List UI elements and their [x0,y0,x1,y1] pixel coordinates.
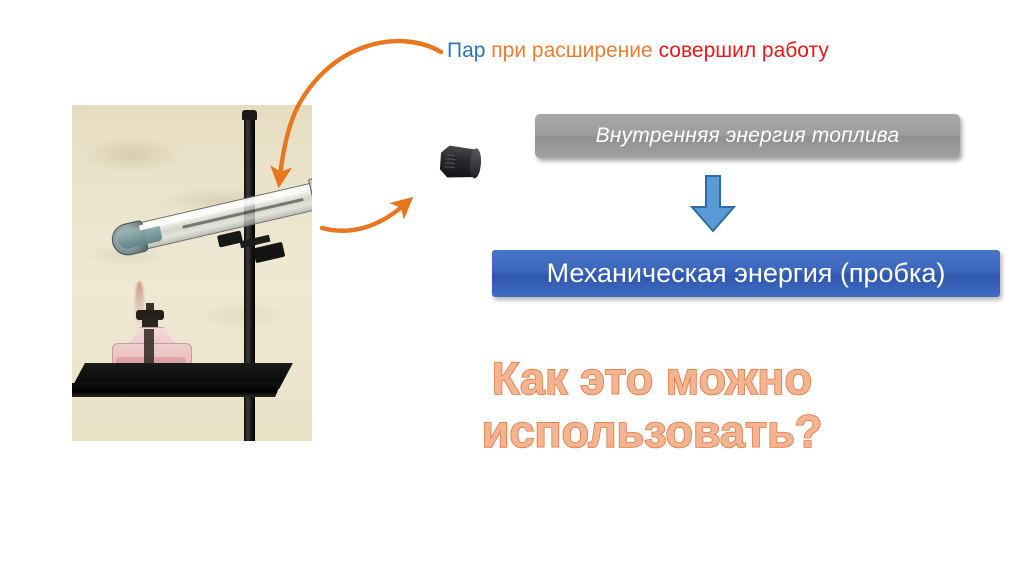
burner-inner-tube [144,329,154,363]
internal-energy-box[interactable]: Внутренняя энергия топлива [535,114,960,158]
mechanical-energy-box-label: Механическая энергия (пробка) [547,258,946,289]
heading-word-did-work: совершил работу [659,39,829,62]
cork-ridges [444,154,455,171]
stand-rod-cap [242,110,257,120]
top-heading: Пар при расширение совершил работу [447,38,829,64]
cork-top-face [469,148,482,179]
mechanical-energy-box[interactable]: Механическая энергия (пробка) [492,250,1000,297]
rubber-cork [437,145,479,180]
wordart-line-2: использовать? [434,405,870,458]
heading-word-steam: Пар [447,39,485,62]
arrow-to-cork-icon [322,205,404,231]
down-arrow-icon [689,174,737,234]
slide-canvas: Пар при расширение совершил работу Внутр… [0,0,1024,574]
stand-base-front [72,383,281,397]
internal-energy-box-label: Внутренняя энергия топлива [596,124,900,148]
heading-word-expansion: при расширение [491,39,652,62]
wordart-question: Как это можно использовать? [434,352,870,458]
experiment-photo [72,105,312,441]
cork-photo [423,124,495,201]
wordart-line-1: Как это можно [434,352,870,405]
